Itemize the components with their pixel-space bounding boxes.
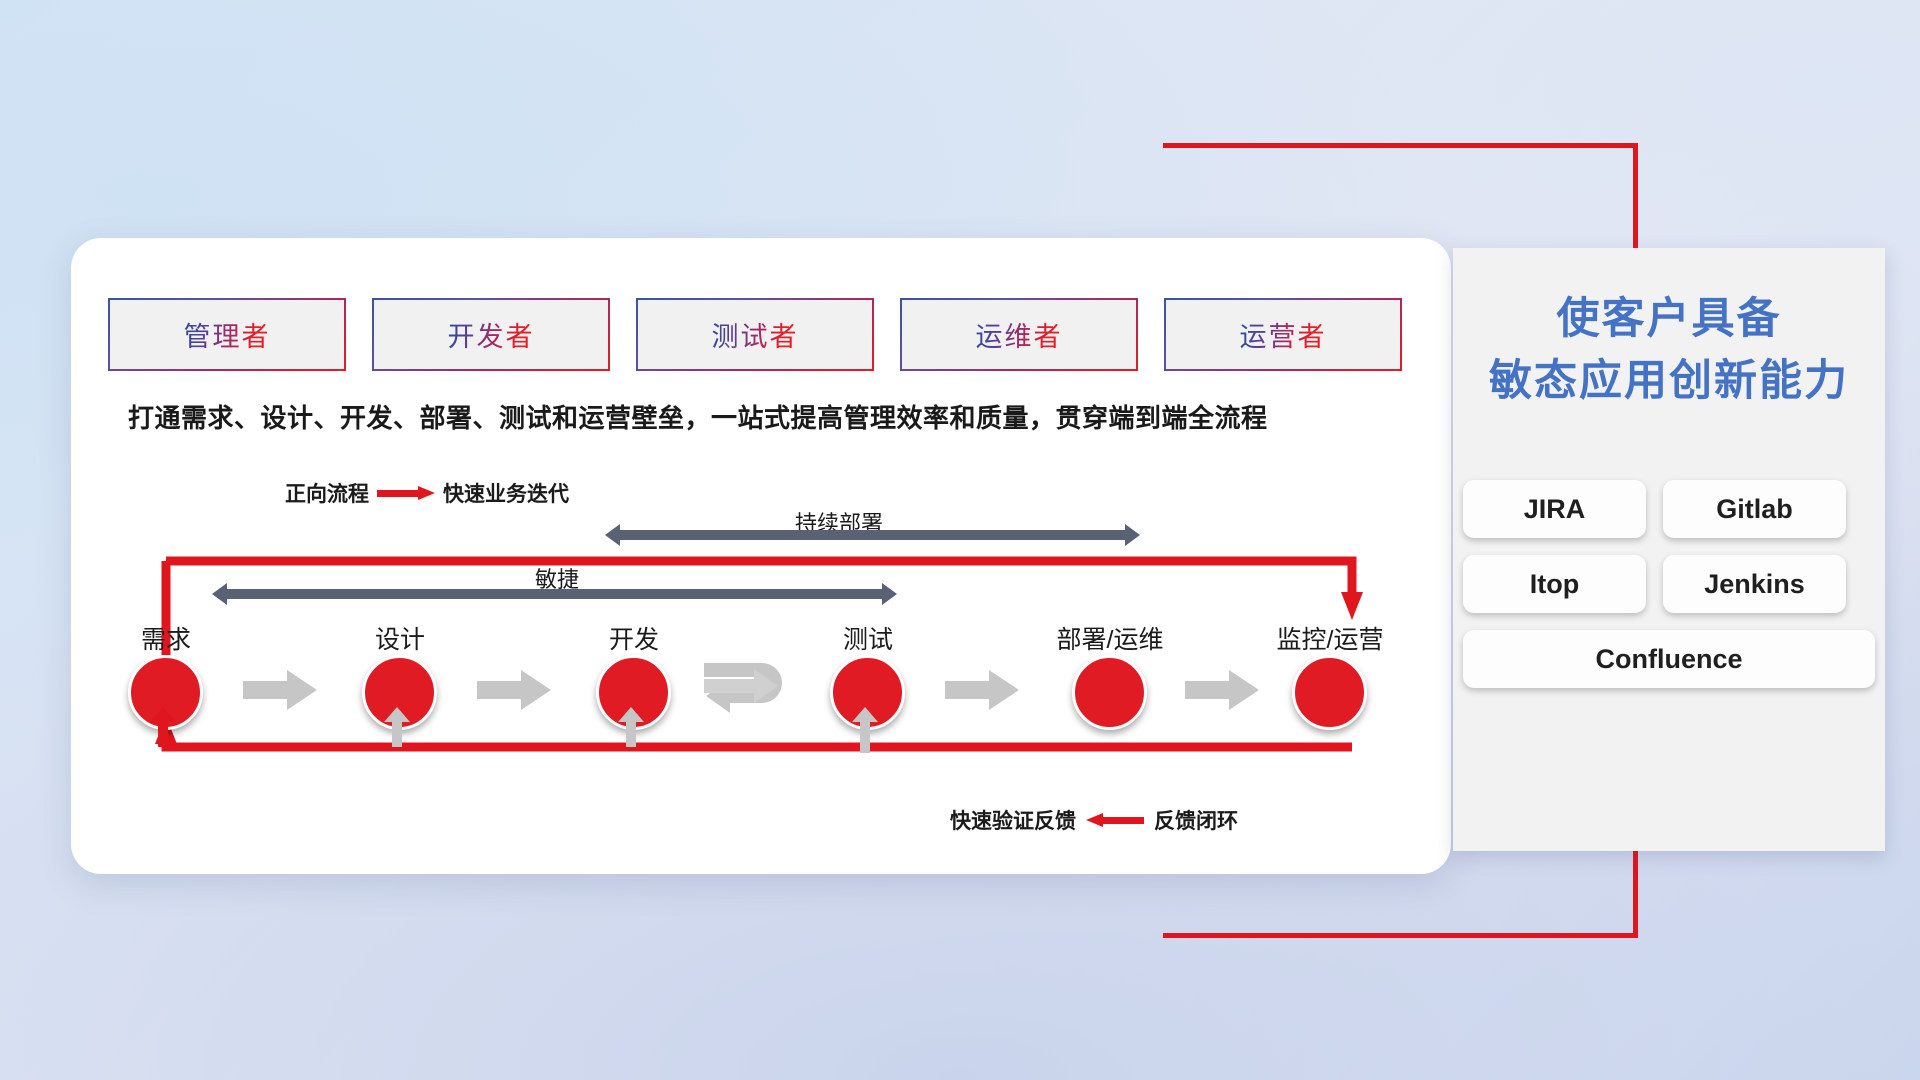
legend-forward-flow: 正向流程 快速业务迭代: [285, 478, 569, 508]
feedback-up-arrow-testing: [852, 707, 878, 753]
flow-node-label-deploy-ops: 部署/运维: [1057, 620, 1164, 656]
flow-node-label-development: 开发: [609, 620, 659, 656]
flow-node-label-testing: 测试: [843, 620, 893, 656]
legend-feedback-source-label: 反馈闭环: [1154, 805, 1238, 835]
tools-heading-line1: 使客户具备: [1453, 288, 1885, 350]
tools-pill-list: JIRA Gitlab Itop Jenkins Confluence: [1463, 480, 1875, 688]
role-box-ops[interactable]: 运维者: [902, 300, 1136, 369]
tools-panel-heading: 使客户具备 敏态应用创新能力: [1453, 288, 1885, 413]
flow-arrow-icon-4: [1185, 670, 1259, 710]
role-label: 管理者: [184, 315, 271, 354]
iteration-loop-icon: [700, 655, 810, 727]
feedback-up-arrow-development: [618, 707, 644, 747]
role-box-developer[interactable]: 开发者: [374, 300, 608, 369]
legend-feedback-target-label: 快速验证反馈: [950, 805, 1076, 835]
legend-forward-source-label: 正向流程: [285, 478, 369, 508]
flow-node-monitor-operations[interactable]: [1292, 655, 1367, 730]
tools-heading-line2: 敏态应用创新能力: [1453, 350, 1885, 412]
tool-pill-jenkins[interactable]: Jenkins: [1663, 555, 1846, 613]
red-arrow-left-icon: [1086, 813, 1144, 827]
diagram-canvas: 管理者 开发者 测试者 运维者 运营者 打通需求、设计、开发、部署、测试和运营壁…: [0, 0, 1920, 1080]
role-boxes-row: 管理者 开发者 测试者 运维者 运营者: [110, 300, 1400, 369]
flow-arrow-icon-1: [243, 670, 317, 710]
flow-arrow-icon-3: [945, 670, 1019, 710]
role-box-operations[interactable]: 运营者: [1166, 300, 1400, 369]
role-label: 测试者: [712, 315, 799, 354]
red-arrow-right-icon: [377, 486, 435, 500]
legend-feedback-loop: 快速验证反馈 反馈闭环: [950, 805, 1238, 835]
span-arrow-continuous-deployment: [605, 524, 1140, 546]
role-box-tester[interactable]: 测试者: [638, 300, 872, 369]
tool-pill-gitlab[interactable]: Gitlab: [1663, 480, 1846, 538]
flow-node-label-monitor-operations: 监控/运营: [1277, 620, 1384, 656]
role-label: 运维者: [976, 315, 1063, 354]
tool-pill-jira[interactable]: JIRA: [1463, 480, 1646, 538]
tool-pill-confluence[interactable]: Confluence: [1463, 630, 1875, 688]
role-box-manager[interactable]: 管理者: [110, 300, 344, 369]
feedback-up-arrow-design: [384, 707, 410, 747]
role-label: 运营者: [1240, 315, 1327, 354]
flow-node-deploy-ops[interactable]: [1072, 655, 1147, 730]
flow-node-label-requirement: 需求: [141, 620, 191, 656]
legend-forward-target-label: 快速业务迭代: [443, 478, 569, 508]
flow-node-label-design: 设计: [375, 620, 425, 656]
role-label: 开发者: [448, 315, 535, 354]
feedback-up-arrow-requirement: [150, 707, 176, 747]
description-text: 打通需求、设计、开发、部署、测试和运营壁垒，一站式提高管理效率和质量，贯穿端到端…: [128, 398, 1428, 435]
span-arrow-agile: [212, 583, 897, 605]
tool-pill-itop[interactable]: Itop: [1463, 555, 1646, 613]
flow-arrow-icon-2: [477, 670, 551, 710]
